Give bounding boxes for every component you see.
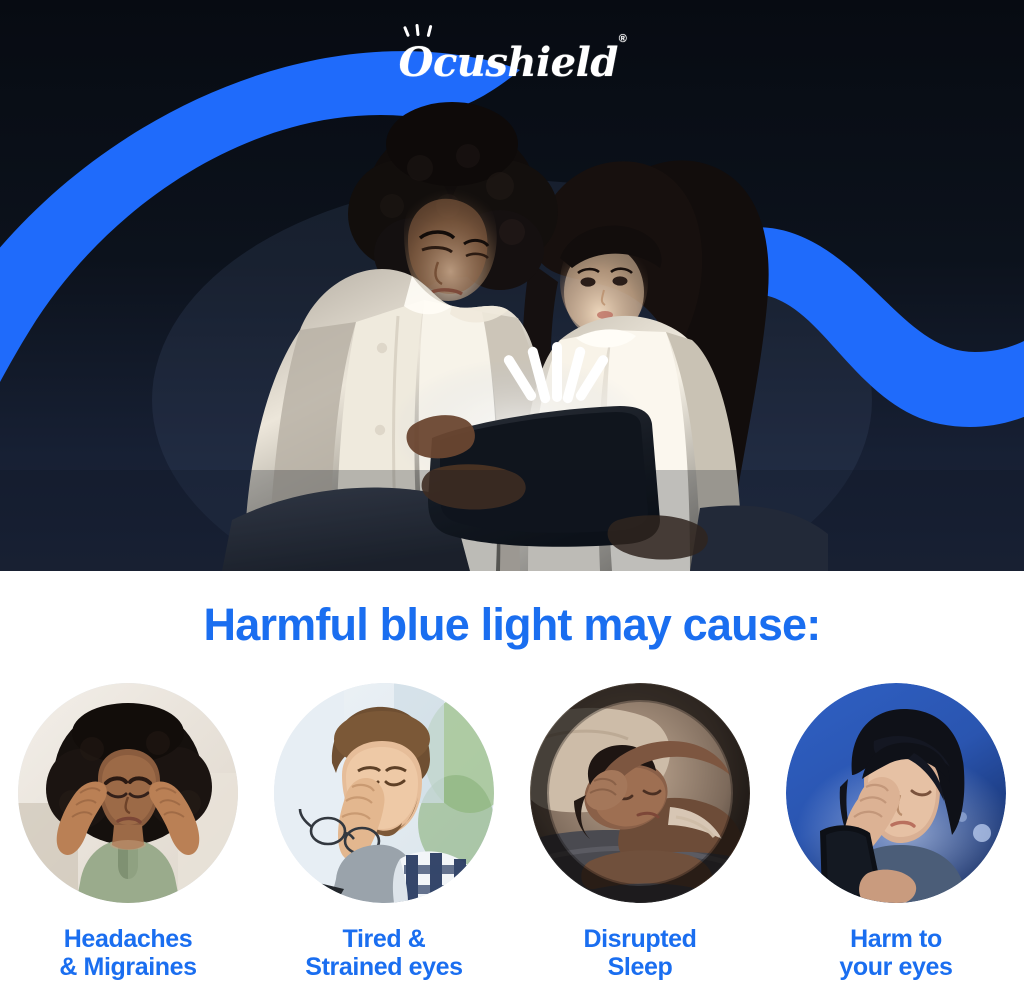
benefits-section: Harmful blue light may cause: [0,571,1024,997]
symptom-card-eye-strain: Tired & Strained eyes [261,683,507,981]
symptom-label: Disrupted Sleep [583,925,696,981]
hero-artwork [0,0,1024,571]
symptom-card-eye-harm: Harm to your eyes [773,683,1019,981]
symptom-label: Headaches & Migraines [59,925,196,981]
insomnia-illustration [530,683,750,903]
promo-page: Ocushield® Harmful blue light may cause: [0,0,1024,997]
headache-illustration [18,683,238,903]
eye-strain-illustration [274,683,494,903]
eye-damage-illustration [786,683,1006,903]
hero-banner: Ocushield® [0,0,1024,571]
page-title: Harmful blue light may cause: [0,599,1024,651]
symptom-label: Tired & Strained eyes [305,925,462,981]
eye-damage-photo-circle [786,683,1006,903]
symptom-card-list: Headaches & Migraines [0,683,1024,993]
symptom-label: Harm to your eyes [839,925,952,981]
headache-photo-circle [18,683,238,903]
eye-strain-photo-circle [274,683,494,903]
insomnia-photo-circle [530,683,750,903]
symptom-card-sleep: Disrupted Sleep [517,683,763,981]
symptom-card-headaches: Headaches & Migraines [5,683,251,981]
